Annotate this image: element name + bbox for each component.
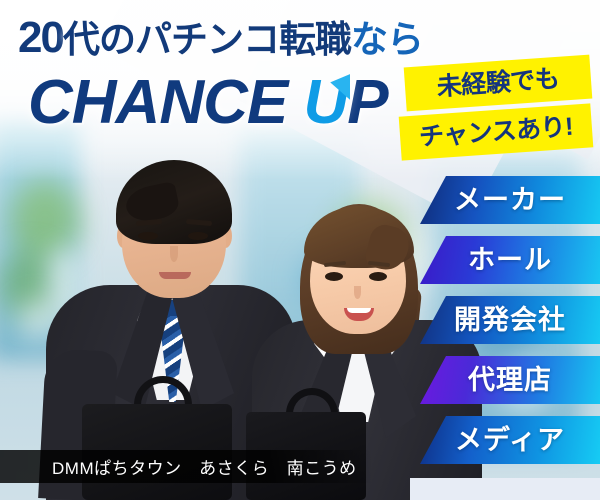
- category-label: 代理店: [468, 367, 552, 394]
- headline-number: 20: [18, 13, 63, 62]
- headline-tail: なら: [351, 19, 423, 60]
- category-label: メディア: [455, 427, 565, 454]
- female-eye-right: [369, 272, 387, 281]
- female-teeth: [347, 308, 371, 313]
- badge-line-1: 未経験でも: [404, 55, 593, 112]
- male-eye-left: [138, 232, 158, 240]
- male-eye-right: [188, 232, 208, 240]
- category-label: メーカー: [454, 187, 566, 214]
- logo-letter-p: P: [347, 68, 387, 137]
- female-nose: [354, 286, 361, 299]
- chance-up-logo: CHANCE UP: [28, 72, 388, 134]
- headline: 20代のパチンコ転職なら: [18, 16, 438, 60]
- category-item-development-company[interactable]: 開発会社: [420, 296, 600, 344]
- category-item-maker[interactable]: メーカー: [420, 176, 600, 224]
- female-bangs: [304, 206, 414, 268]
- logo-word-chance: CHANCE: [28, 68, 287, 137]
- badge-line-2: チャンスあり!: [399, 103, 594, 160]
- headline-main: 代のパチンコ転職: [63, 19, 351, 60]
- category-item-agency[interactable]: 代理店: [420, 356, 600, 404]
- male-mouth: [159, 272, 191, 279]
- credit-text: DMMぱちタウン あさくら 南こうめ: [0, 454, 357, 479]
- category-list: メーカー ホール 開発会社 代理店 メディア: [420, 176, 600, 464]
- category-label: ホール: [468, 247, 552, 274]
- credit-bar: DMMぱちタウン あさくら 南こうめ: [0, 450, 372, 483]
- category-item-media[interactable]: メディア: [420, 416, 600, 464]
- category-item-hall[interactable]: ホール: [420, 236, 600, 284]
- female-eye-left: [325, 272, 343, 281]
- male-hair: [116, 160, 232, 244]
- bottom-light-strip: [410, 478, 600, 500]
- inexperience-badge: 未経験でも チャンスあり!: [400, 58, 596, 162]
- male-nose: [170, 246, 178, 262]
- logo-letter-u: U: [303, 72, 347, 134]
- advertisement-banner[interactable]: 20代のパチンコ転職なら CHANCE UP 未経験でも チャンスあり! メーカ…: [0, 0, 600, 500]
- category-label: 開発会社: [454, 307, 566, 334]
